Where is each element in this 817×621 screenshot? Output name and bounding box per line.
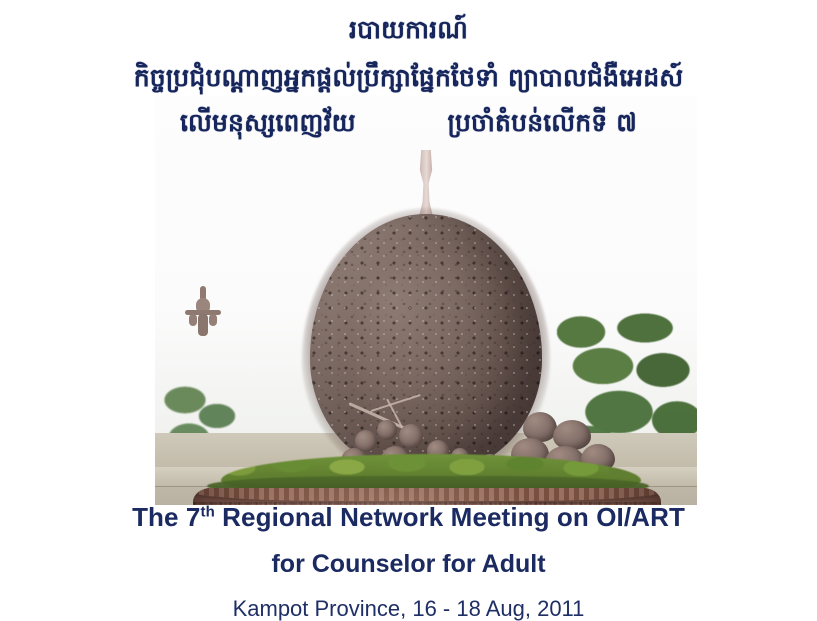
caption-line-3: Kampot Province, 16 - 18 Aug, 2011 — [0, 596, 817, 621]
durian-monument-photo — [155, 96, 697, 505]
khmer-title-line-1: របាយការណ៍ — [0, 12, 817, 48]
caption-line-1: The 7th Regional Network Meeting on OI/A… — [0, 502, 817, 533]
fruit-berry — [355, 430, 377, 452]
mango-fruit — [553, 420, 591, 450]
caption-line-1-pre: The 7 — [132, 502, 200, 532]
english-caption-block: The 7th Regional Network Meeting on OI/A… — [0, 502, 817, 621]
fruit-berry — [377, 420, 397, 440]
fruit-branch — [371, 394, 421, 412]
caption-line-2: for Counselor for Adult — [0, 550, 817, 579]
apsara-statue — [185, 286, 221, 342]
presentation-slide: របាយការណ៍ កិច្ចប្រជុំបណ្តាញអ្នកផ្តល់ប្រឹ… — [0, 0, 817, 621]
khmer-title-line-2: កិច្ចប្រជុំបណ្តាញអ្នកផ្តល់ប្រឹក្សាផ្នែកថ… — [0, 60, 817, 96]
caption-line-1-post: Regional Network Meeting on OI/ART — [215, 502, 685, 532]
caption-ordinal-suffix: th — [200, 503, 214, 520]
fruit-berry — [399, 424, 423, 448]
